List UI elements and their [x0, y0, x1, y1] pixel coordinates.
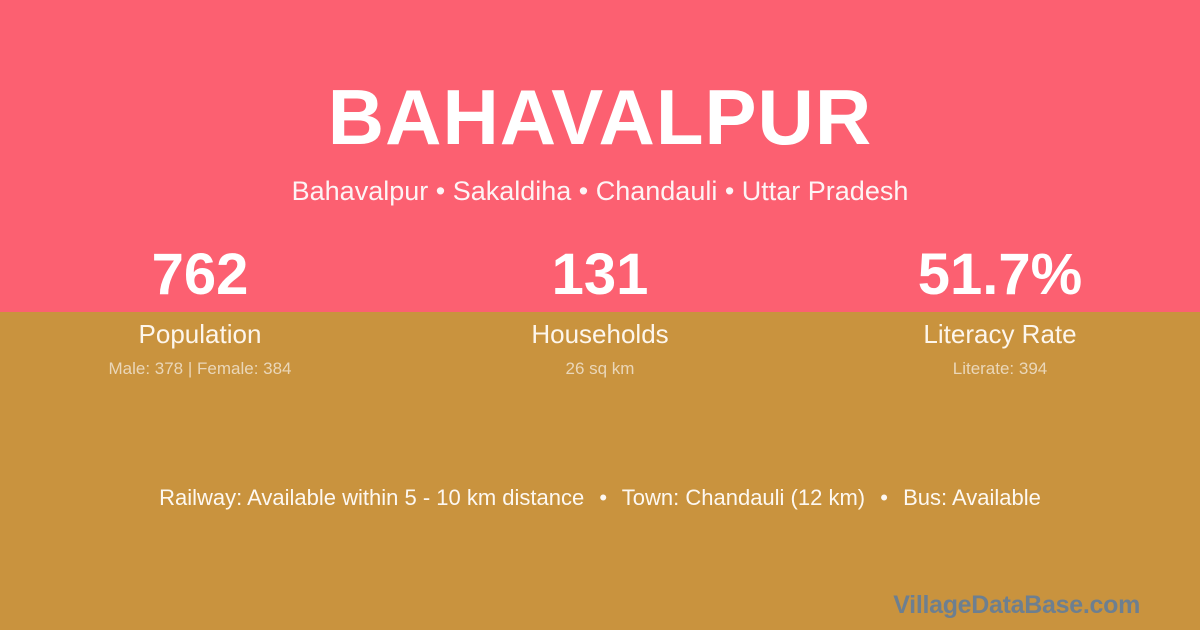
stat-value-population: 762	[0, 246, 400, 304]
stat-label-literacy-rate: Literacy Rate	[800, 321, 1200, 347]
stat-households: 131 Households 26 sq km	[400, 246, 800, 377]
info-separator-1: •	[590, 485, 616, 510]
stat-population: 762 Population Male: 378 | Female: 384	[0, 246, 400, 377]
stats-row: 762 Population Male: 378 | Female: 384 1…	[0, 246, 1200, 377]
stat-sub-population: Male: 378 | Female: 384	[0, 360, 400, 377]
stat-sub-households: 26 sq km	[400, 360, 800, 377]
stat-value-households: 131	[400, 246, 800, 304]
info-railway: Railway: Available within 5 - 10 km dist…	[159, 485, 584, 510]
info-separator-2: •	[871, 485, 897, 510]
info-town: Town: Chandauli (12 km)	[622, 485, 865, 510]
card-header: BAHAVALPUR Bahavalpur • Sakaldiha • Chan…	[0, 0, 1200, 205]
site-logo[interactable]: VillageDataBase.com	[893, 593, 1140, 618]
page-title: BAHAVALPUR	[0, 0, 1200, 156]
amenities-info-line: Railway: Available within 5 - 10 km dist…	[0, 487, 1200, 509]
stat-sub-literacy-rate: Literate: 394	[800, 360, 1200, 377]
stat-literacy-rate: 51.7% Literacy Rate Literate: 394	[800, 246, 1200, 377]
info-bus: Bus: Available	[903, 485, 1041, 510]
breadcrumb: Bahavalpur • Sakaldiha • Chandauli • Utt…	[0, 156, 1200, 205]
stat-label-population: Population	[0, 321, 400, 347]
stat-label-households: Households	[400, 321, 800, 347]
stat-value-literacy-rate: 51.7%	[800, 246, 1200, 304]
village-info-card: BAHAVALPUR Bahavalpur • Sakaldiha • Chan…	[0, 0, 1200, 630]
